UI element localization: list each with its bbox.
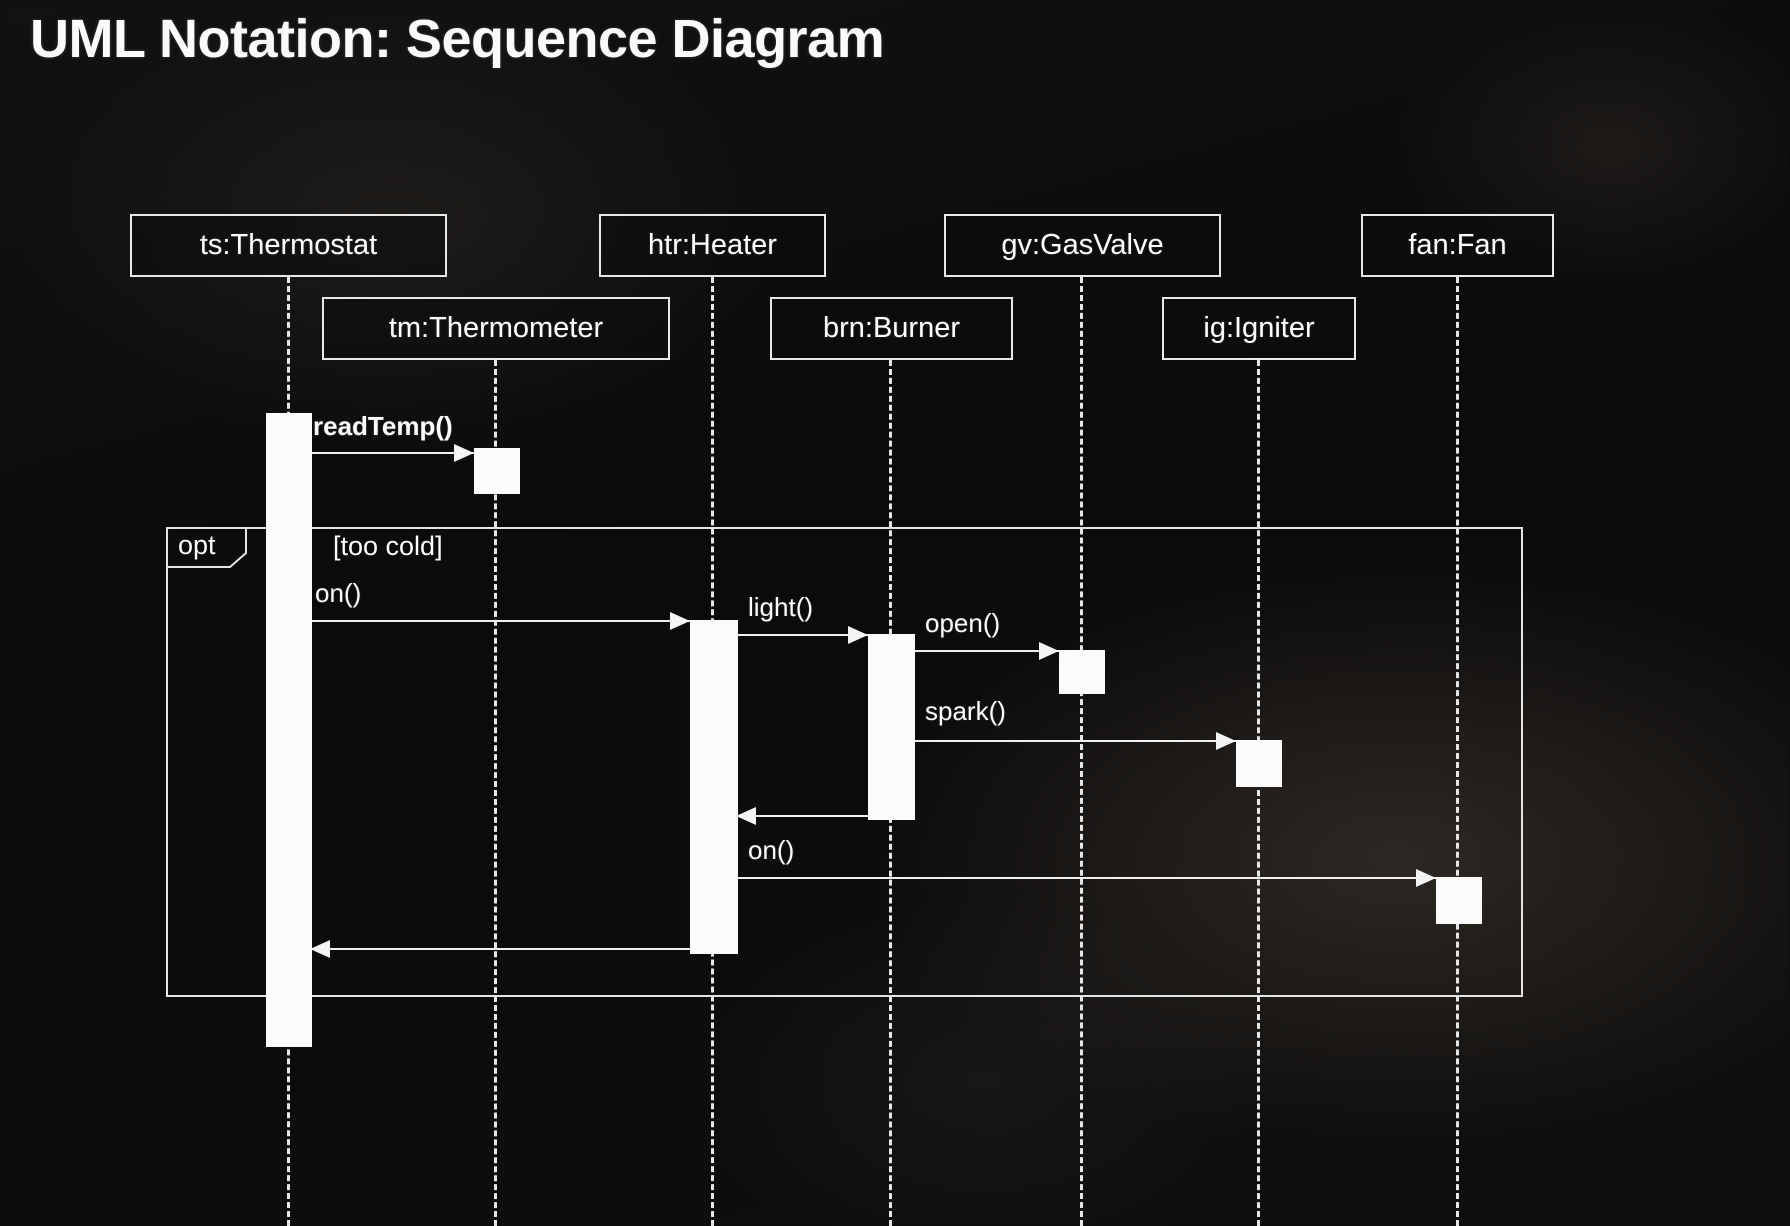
message-line-m7 bbox=[736, 877, 1436, 879]
lifeline-header-ig[interactable]: ig:Igniter bbox=[1162, 297, 1356, 360]
message-line-m4 bbox=[913, 650, 1059, 652]
message-arrowhead-m4 bbox=[1039, 642, 1059, 660]
message-arrowhead-m1 bbox=[454, 444, 474, 462]
activation-bar-ts bbox=[266, 413, 312, 1047]
message-label-m4: open() bbox=[925, 608, 1000, 639]
message-arrowhead-m7 bbox=[1416, 869, 1436, 887]
message-label-m5: spark() bbox=[925, 696, 1006, 727]
lifeline-header-gv[interactable]: gv:GasValve bbox=[944, 214, 1221, 277]
lifeline-label-tm: tm:Thermometer bbox=[389, 312, 603, 345]
lifeline-header-ts[interactable]: ts:Thermostat bbox=[130, 214, 447, 277]
activation-bar-htr bbox=[690, 620, 738, 954]
lifeline-header-brn[interactable]: brn:Burner bbox=[770, 297, 1013, 360]
activation-bar-fan bbox=[1436, 877, 1482, 924]
fragment-guard-condition: [too cold] bbox=[333, 531, 443, 562]
activation-bar-brn bbox=[868, 634, 915, 820]
message-label-m7: on() bbox=[748, 835, 794, 866]
lifeline-label-fan: fan:Fan bbox=[1408, 229, 1506, 262]
lifeline-header-tm[interactable]: tm:Thermometer bbox=[322, 297, 670, 360]
message-line-m1 bbox=[310, 452, 474, 454]
activation-bar-ig bbox=[1236, 740, 1282, 787]
combined-fragment-opt bbox=[166, 527, 1523, 997]
activation-bar-gv bbox=[1059, 650, 1105, 694]
message-label-m1: readTemp() bbox=[313, 411, 453, 442]
message-arrowhead-m5 bbox=[1216, 732, 1236, 750]
message-line-m8 bbox=[310, 948, 690, 950]
lifeline-label-brn: brn:Burner bbox=[823, 312, 960, 345]
activation-bar-tm bbox=[474, 448, 520, 494]
message-line-m2 bbox=[310, 620, 690, 622]
message-label-m2: on() bbox=[315, 578, 361, 609]
lifeline-label-ts: ts:Thermostat bbox=[200, 229, 377, 262]
fragment-operator-label: opt bbox=[178, 530, 216, 561]
lifeline-label-gv: gv:GasValve bbox=[1001, 229, 1163, 262]
lifeline-header-htr[interactable]: htr:Heater bbox=[599, 214, 826, 277]
message-arrowhead-m6 bbox=[736, 807, 756, 825]
message-arrowhead-m8 bbox=[310, 940, 330, 958]
message-arrowhead-m3 bbox=[848, 626, 868, 644]
message-label-m3: light() bbox=[748, 592, 813, 623]
lifeline-label-htr: htr:Heater bbox=[648, 229, 777, 262]
message-arrowhead-m2 bbox=[670, 612, 690, 630]
sequence-diagram-canvas: opt[too cold]readTemp()on()light()open()… bbox=[0, 0, 1790, 1226]
lifeline-header-fan[interactable]: fan:Fan bbox=[1361, 214, 1554, 277]
lifeline-label-ig: ig:Igniter bbox=[1203, 312, 1314, 345]
message-line-m5 bbox=[913, 740, 1236, 742]
